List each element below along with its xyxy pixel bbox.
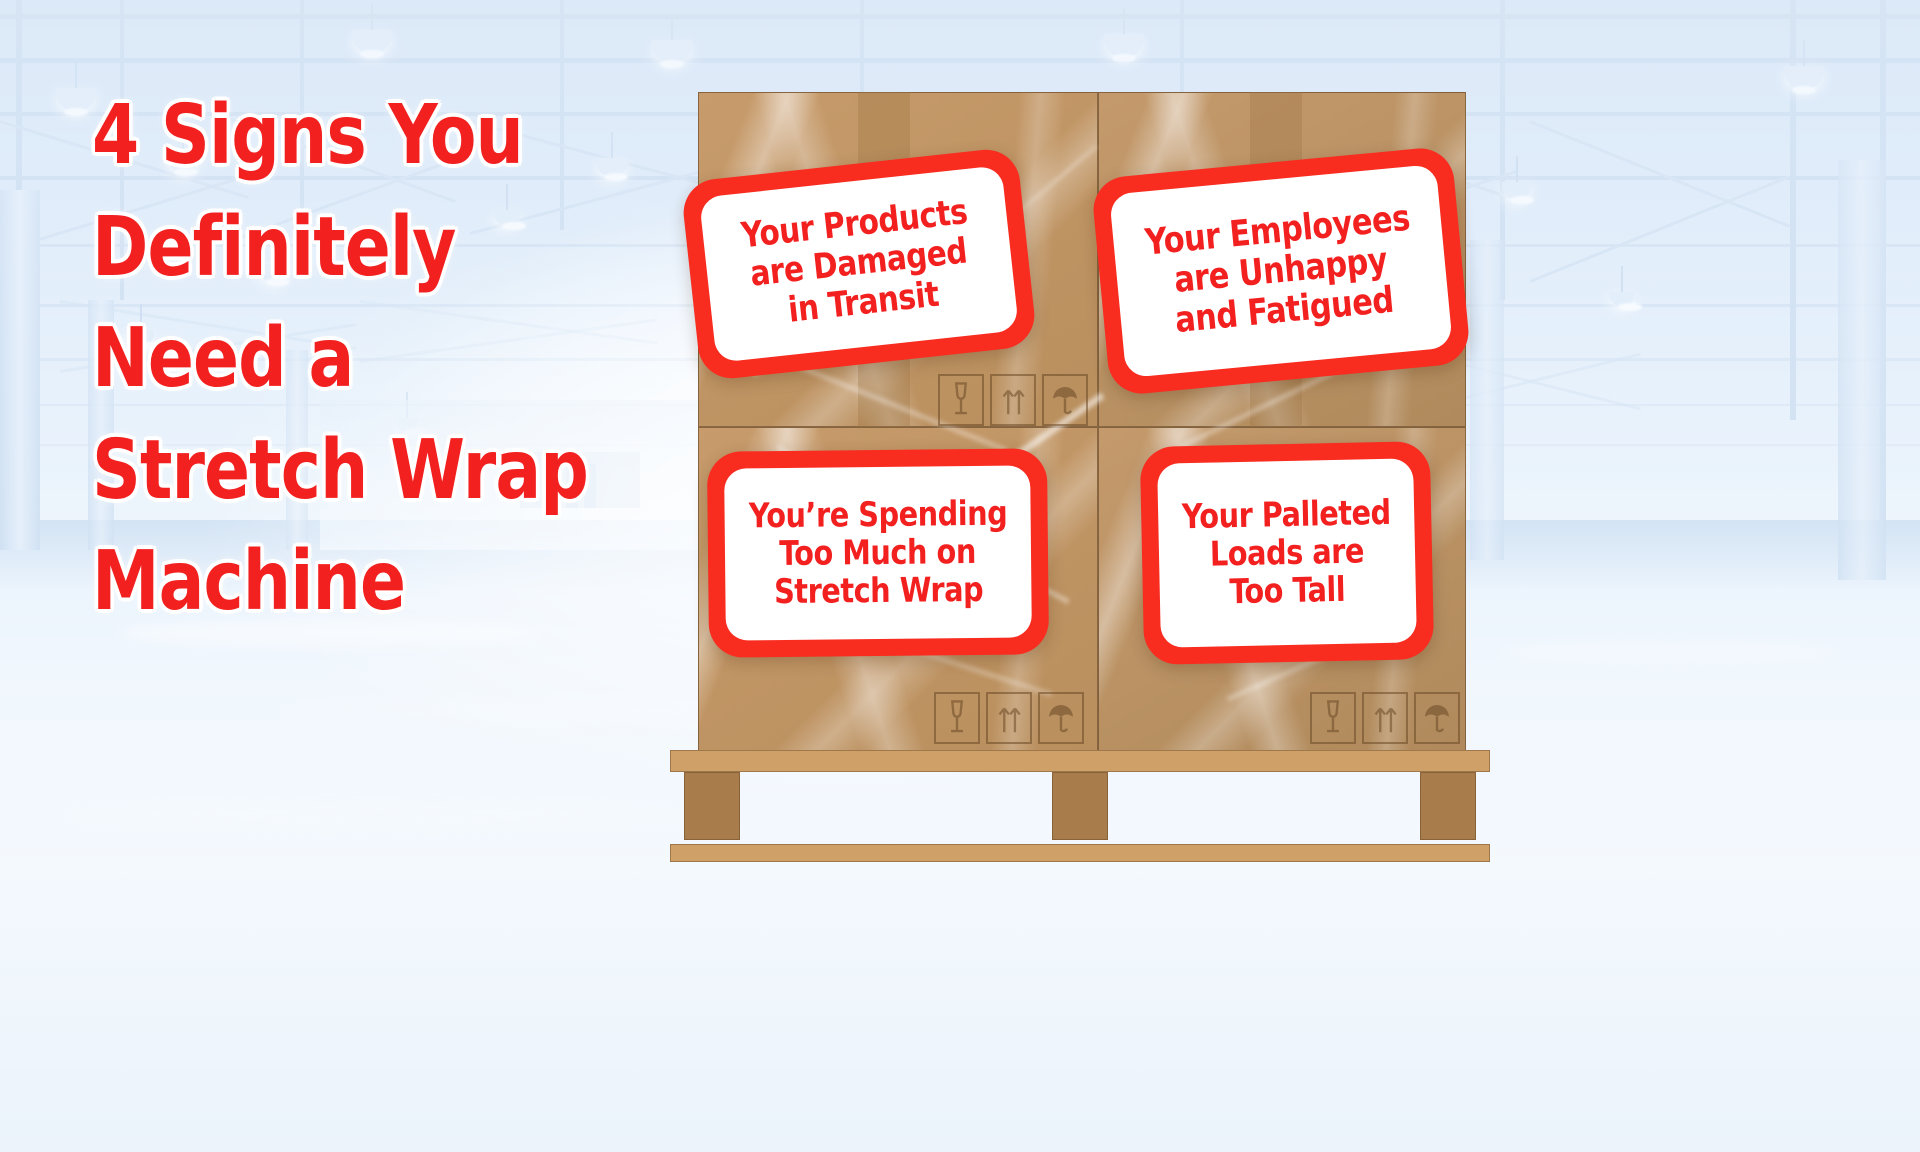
stretch-wrapped-pallet-illustration: Your Products are Damaged in Transit You…: [670, 92, 1490, 862]
sign-spending-too-much[interactable]: You’re Spending Too Much on Stretch Wrap: [707, 448, 1049, 658]
headline-line-3: Need a: [92, 319, 644, 399]
this-side-up-arrows-icon: [986, 692, 1032, 744]
this-side-up-arrows-icon: [990, 374, 1036, 426]
pallet-top-deck: [670, 750, 1490, 772]
sign-4-line-2: Loads are: [1210, 532, 1365, 573]
fragile-glass-icon: [938, 374, 984, 426]
sign-loads-too-tall[interactable]: Your Palleted Loads are Too Tall: [1140, 441, 1435, 665]
keep-dry-umbrella-icon: [1042, 374, 1088, 426]
sign-3-line-3: Stretch Wrap: [774, 571, 984, 611]
poster-canvas: 4 Signs You Definitely Need a Stretch Wr…: [0, 0, 1920, 1152]
page-title: 4 Signs You Definitely Need a Stretch Wr…: [92, 96, 692, 622]
sign-3-line-1: You’re Spending: [748, 495, 1007, 536]
fragile-glass-icon: [934, 692, 980, 744]
pallet-bottom-deck: [670, 844, 1490, 862]
sign-employees-unhappy[interactable]: Your Employees are Unhappy and Fatigued: [1091, 145, 1472, 396]
headline-line-5: Machine: [92, 542, 644, 622]
handling-icons-upper: [938, 374, 1088, 426]
sign-4-line-1: Your Palleted: [1181, 494, 1391, 536]
handling-icons-lower-right: [1310, 692, 1460, 744]
fragile-glass-icon: [1310, 692, 1356, 744]
sign-4-line-3: Too Tall: [1230, 571, 1346, 611]
keep-dry-umbrella-icon: [1038, 692, 1084, 744]
handling-icons-lower-left: [934, 692, 1084, 744]
pallet-foot-center: [1052, 772, 1108, 840]
keep-dry-umbrella-icon: [1414, 692, 1460, 744]
pallet-foot-left: [684, 772, 740, 840]
sign-products-damaged[interactable]: Your Products are Damaged in Transit: [680, 146, 1038, 381]
this-side-up-arrows-icon: [1362, 692, 1408, 744]
pallet-foot-right: [1420, 772, 1476, 840]
headline-line-2: Definitely: [92, 208, 644, 288]
headline-line-4: Stretch Wrap: [92, 431, 644, 511]
headline-line-1: 4 Signs You: [92, 96, 644, 176]
sign-3-line-2: Too Much on: [780, 533, 977, 573]
wooden-pallet: [670, 750, 1490, 862]
